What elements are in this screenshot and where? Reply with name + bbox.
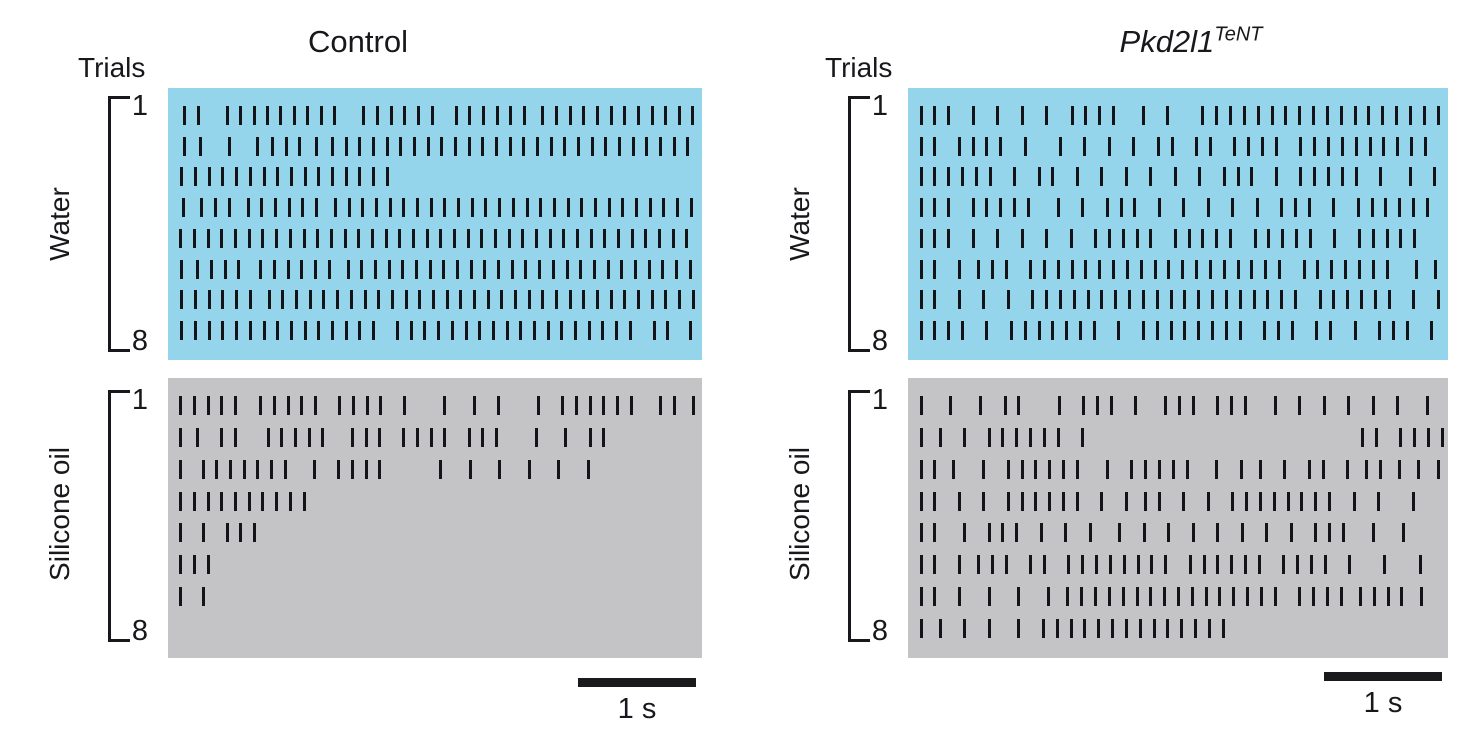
lick-tick bbox=[179, 229, 182, 248]
lick-tick bbox=[1045, 106, 1048, 125]
axis-label-control-oil: Silicone oil bbox=[46, 404, 74, 624]
lick-tick bbox=[920, 428, 923, 447]
lick-tick bbox=[933, 290, 936, 309]
lick-tick bbox=[920, 396, 923, 415]
lick-tick bbox=[402, 428, 405, 447]
lick-tick bbox=[333, 106, 336, 125]
lick-tick bbox=[949, 396, 952, 415]
lick-tick bbox=[1076, 492, 1079, 511]
lick-tick bbox=[285, 137, 288, 156]
lick-tick bbox=[334, 198, 337, 217]
lick-tick bbox=[429, 260, 432, 279]
lick-tick bbox=[1322, 460, 1325, 479]
lick-tick bbox=[1420, 587, 1423, 606]
raster-control-oil bbox=[168, 378, 702, 658]
lick-tick bbox=[1353, 492, 1356, 511]
lick-tick bbox=[1207, 492, 1210, 511]
lick-tick bbox=[215, 460, 218, 479]
lick-tick bbox=[1197, 290, 1200, 309]
lick-tick bbox=[1040, 523, 1043, 542]
lick-tick bbox=[1280, 290, 1283, 309]
lick-tick bbox=[247, 198, 250, 217]
lick-tick bbox=[1239, 290, 1242, 309]
lick-tick bbox=[1383, 555, 1386, 574]
lick-tick bbox=[1387, 587, 1390, 606]
lick-tick bbox=[1183, 290, 1186, 309]
lick-tick bbox=[352, 396, 355, 415]
lick-tick bbox=[1149, 587, 1152, 606]
lick-tick bbox=[365, 460, 368, 479]
lick-tick bbox=[1144, 460, 1147, 479]
lick-tick bbox=[933, 229, 936, 248]
lick-tick bbox=[1021, 460, 1024, 479]
lick-tick bbox=[361, 198, 364, 217]
lick-tick bbox=[1396, 137, 1399, 156]
lick-tick bbox=[234, 229, 237, 248]
lick-tick bbox=[347, 260, 350, 279]
lick-tick bbox=[567, 198, 570, 217]
lick-tick bbox=[547, 321, 550, 340]
lick-tick bbox=[1392, 321, 1395, 340]
lick-tick bbox=[1310, 555, 1313, 574]
lick-tick bbox=[1062, 492, 1065, 511]
lick-tick bbox=[357, 229, 360, 248]
lick-tick bbox=[179, 555, 182, 574]
lick-tick bbox=[1065, 321, 1068, 340]
scalebar-tent: 1 s bbox=[1324, 672, 1442, 719]
lick-tick bbox=[1367, 106, 1370, 125]
lick-tick bbox=[1158, 198, 1161, 217]
lick-tick bbox=[1402, 523, 1405, 542]
lick-tick bbox=[193, 396, 196, 415]
lick-tick bbox=[1300, 492, 1303, 511]
lick-tick bbox=[1409, 106, 1412, 125]
lick-tick bbox=[610, 290, 613, 309]
lick-tick bbox=[1245, 492, 1248, 511]
lick-tick bbox=[1400, 587, 1403, 606]
lick-tick bbox=[673, 137, 676, 156]
lick-tick bbox=[582, 290, 585, 309]
lick-tick bbox=[1125, 492, 1128, 511]
lick-tick bbox=[224, 260, 227, 279]
lick-tick bbox=[1108, 229, 1111, 248]
lick-tick bbox=[220, 396, 223, 415]
scalebar-label-tent: 1 s bbox=[1324, 687, 1442, 719]
lick-tick bbox=[1395, 106, 1398, 125]
lick-tick bbox=[972, 106, 975, 125]
lick-tick bbox=[235, 167, 238, 186]
lick-tick bbox=[1095, 555, 1098, 574]
lick-tick bbox=[1415, 260, 1418, 279]
lick-tick bbox=[1237, 167, 1240, 186]
lick-tick bbox=[996, 229, 999, 248]
lick-tick bbox=[555, 106, 558, 125]
lick-tick bbox=[1441, 428, 1444, 447]
lick-tick bbox=[1254, 229, 1257, 248]
lick-tick bbox=[509, 137, 512, 156]
lick-tick bbox=[331, 321, 334, 340]
lick-tick bbox=[1093, 321, 1096, 340]
lick-tick bbox=[533, 321, 536, 340]
lick-tick bbox=[1158, 460, 1161, 479]
lick-tick bbox=[1038, 321, 1041, 340]
lick-tick bbox=[1024, 321, 1027, 340]
lick-tick bbox=[630, 396, 633, 415]
lick-tick bbox=[280, 428, 283, 447]
lick-tick bbox=[344, 229, 347, 248]
lick-tick bbox=[1256, 198, 1259, 217]
lick-tick bbox=[587, 460, 590, 479]
lick-tick bbox=[1326, 587, 1329, 606]
lick-tick bbox=[644, 229, 647, 248]
lick-tick bbox=[303, 492, 306, 511]
lick-tick bbox=[1299, 137, 1302, 156]
lick-tick bbox=[1308, 198, 1311, 217]
lick-tick bbox=[259, 260, 262, 279]
lick-tick bbox=[1287, 492, 1290, 511]
lick-tick bbox=[208, 167, 211, 186]
lick-tick bbox=[443, 396, 446, 415]
lick-tick bbox=[1171, 137, 1174, 156]
lick-tick bbox=[1233, 137, 1236, 156]
lick-tick bbox=[920, 321, 923, 340]
lick-tick bbox=[580, 198, 583, 217]
lick-tick bbox=[1114, 290, 1117, 309]
lick-tick bbox=[933, 167, 936, 186]
lick-tick bbox=[193, 492, 196, 511]
lick-tick bbox=[468, 137, 471, 156]
lick-tick bbox=[1263, 321, 1266, 340]
lick-tick bbox=[249, 167, 252, 186]
lick-tick bbox=[314, 396, 317, 415]
lick-tick bbox=[933, 198, 936, 217]
lick-tick bbox=[1327, 167, 1330, 186]
lick-tick bbox=[933, 460, 936, 479]
lick-tick bbox=[1056, 619, 1059, 638]
lick-tick bbox=[470, 260, 473, 279]
lick-tick bbox=[1013, 167, 1016, 186]
lick-tick bbox=[1192, 396, 1195, 415]
trial-last-tent-oil: 8 bbox=[840, 617, 888, 646]
lick-tick bbox=[179, 587, 182, 606]
lick-tick bbox=[920, 492, 923, 511]
lick-tick bbox=[590, 229, 593, 248]
lick-tick bbox=[1057, 260, 1060, 279]
lick-tick bbox=[1434, 260, 1437, 279]
lick-tick bbox=[1083, 619, 1086, 638]
lick-tick bbox=[1029, 428, 1032, 447]
lick-tick bbox=[550, 137, 553, 156]
lick-tick bbox=[243, 460, 246, 479]
lick-tick bbox=[1051, 167, 1054, 186]
lick-tick bbox=[376, 106, 379, 125]
lick-tick bbox=[1198, 167, 1201, 186]
lick-tick bbox=[1372, 260, 1375, 279]
lick-tick bbox=[336, 290, 339, 309]
lick-tick bbox=[328, 260, 331, 279]
raster-control-water bbox=[168, 88, 702, 360]
lick-tick bbox=[294, 428, 297, 447]
lick-tick bbox=[1203, 555, 1206, 574]
lick-tick bbox=[582, 106, 585, 125]
lick-tick bbox=[331, 167, 334, 186]
lick-tick bbox=[1250, 167, 1253, 186]
lick-tick bbox=[1181, 260, 1184, 279]
lick-tick bbox=[1076, 460, 1079, 479]
lick-tick bbox=[483, 260, 486, 279]
lick-tick bbox=[276, 321, 279, 340]
lick-tick bbox=[315, 198, 318, 217]
lick-tick bbox=[1172, 460, 1175, 479]
lick-tick bbox=[1149, 229, 1152, 248]
trial-bracket-control-oil bbox=[108, 390, 130, 642]
scalebar-line-control bbox=[578, 678, 696, 687]
lick-tick bbox=[511, 260, 514, 279]
lick-tick bbox=[589, 428, 592, 447]
lick-tick bbox=[1125, 167, 1128, 186]
lick-tick bbox=[1253, 290, 1256, 309]
lick-tick bbox=[1174, 167, 1177, 186]
lick-tick bbox=[1215, 229, 1218, 248]
lick-tick bbox=[672, 229, 675, 248]
lick-tick bbox=[577, 137, 580, 156]
lick-tick bbox=[1058, 396, 1061, 415]
lick-tick bbox=[604, 137, 607, 156]
lick-tick bbox=[1381, 106, 1384, 125]
lick-tick bbox=[1156, 290, 1159, 309]
lick-tick bbox=[1154, 260, 1157, 279]
lick-tick bbox=[1021, 229, 1024, 248]
lick-tick bbox=[920, 137, 923, 156]
lick-tick bbox=[979, 396, 982, 415]
lick-tick bbox=[180, 167, 183, 186]
scalebar-label-control: 1 s bbox=[578, 693, 696, 725]
lick-tick bbox=[1128, 290, 1131, 309]
lick-tick bbox=[1229, 106, 1232, 125]
lick-tick bbox=[963, 428, 966, 447]
lick-tick bbox=[637, 290, 640, 309]
lick-tick bbox=[412, 229, 415, 248]
lick-tick bbox=[498, 198, 501, 217]
lick-tick bbox=[920, 619, 923, 638]
lick-tick bbox=[437, 321, 440, 340]
trial-bracket-control-water bbox=[108, 96, 130, 352]
raster-tent-water bbox=[908, 88, 1448, 360]
lick-tick bbox=[484, 198, 487, 217]
lick-tick bbox=[1413, 428, 1416, 447]
lick-tick bbox=[920, 106, 923, 125]
lick-tick bbox=[1142, 106, 1145, 125]
lick-tick bbox=[1314, 523, 1317, 542]
lick-tick bbox=[1079, 321, 1082, 340]
lick-tick bbox=[1315, 321, 1318, 340]
lick-tick bbox=[303, 229, 306, 248]
lick-tick bbox=[1123, 555, 1126, 574]
lick-tick bbox=[1243, 106, 1246, 125]
lick-tick bbox=[196, 260, 199, 279]
lick-tick bbox=[1298, 106, 1301, 125]
lick-tick bbox=[1167, 260, 1170, 279]
lick-tick bbox=[1071, 106, 1074, 125]
lick-tick bbox=[1218, 587, 1221, 606]
trial-last-tent-water: 8 bbox=[840, 327, 888, 356]
lick-tick bbox=[1027, 198, 1030, 217]
lick-tick bbox=[939, 428, 942, 447]
lick-tick bbox=[480, 229, 483, 248]
lick-tick bbox=[1371, 198, 1374, 217]
lick-tick bbox=[315, 137, 318, 156]
lick-tick bbox=[1188, 229, 1191, 248]
lick-tick bbox=[933, 321, 936, 340]
lick-tick bbox=[260, 198, 263, 217]
lick-tick bbox=[481, 428, 484, 447]
lick-tick bbox=[666, 321, 669, 340]
lick-tick bbox=[958, 137, 961, 156]
lick-tick bbox=[1324, 555, 1327, 574]
lick-tick bbox=[1231, 492, 1234, 511]
lick-tick bbox=[500, 290, 503, 309]
panel-title-tent: Pkd2l1TeNT bbox=[1120, 22, 1263, 62]
lick-tick bbox=[403, 396, 406, 415]
lick-tick bbox=[635, 198, 638, 217]
lick-tick bbox=[390, 106, 393, 125]
lick-tick bbox=[374, 260, 377, 279]
lick-tick bbox=[982, 492, 985, 511]
lick-tick bbox=[271, 137, 274, 156]
lick-tick bbox=[1201, 106, 1204, 125]
lick-tick bbox=[1100, 167, 1103, 186]
lick-tick bbox=[972, 137, 975, 156]
lick-tick bbox=[345, 167, 348, 186]
lick-tick bbox=[442, 260, 445, 279]
lick-tick bbox=[1170, 321, 1173, 340]
lick-tick bbox=[1042, 619, 1045, 638]
lick-tick bbox=[1004, 396, 1007, 415]
lick-tick bbox=[1273, 492, 1276, 511]
lick-tick bbox=[553, 198, 556, 217]
lick-tick bbox=[1215, 106, 1218, 125]
lick-tick bbox=[497, 260, 500, 279]
lick-tick bbox=[691, 106, 694, 125]
lick-tick bbox=[528, 290, 531, 309]
lick-tick bbox=[1034, 460, 1037, 479]
lick-tick bbox=[1299, 167, 1302, 186]
lick-tick bbox=[1275, 167, 1278, 186]
lick-tick bbox=[512, 198, 515, 217]
lick-tick bbox=[608, 198, 611, 217]
lick-tick bbox=[594, 198, 597, 217]
lick-tick bbox=[301, 198, 304, 217]
lick-tick bbox=[1239, 321, 1242, 340]
lick-tick bbox=[631, 229, 634, 248]
lick-tick bbox=[1412, 198, 1415, 217]
lick-tick bbox=[220, 428, 223, 447]
lick-tick bbox=[618, 137, 621, 156]
lick-tick bbox=[621, 198, 624, 217]
trial-first-control-water: 1 bbox=[100, 92, 148, 121]
lick-tick bbox=[193, 229, 196, 248]
lick-tick bbox=[372, 321, 375, 340]
lick-tick bbox=[1097, 619, 1100, 638]
lick-tick bbox=[289, 492, 292, 511]
lick-tick bbox=[1153, 619, 1156, 638]
lick-tick bbox=[1303, 260, 1306, 279]
lick-tick bbox=[372, 167, 375, 186]
lick-tick bbox=[348, 198, 351, 217]
lick-tick bbox=[1007, 492, 1010, 511]
lick-tick bbox=[1007, 460, 1010, 479]
lick-tick bbox=[263, 321, 266, 340]
lick-tick bbox=[1229, 229, 1232, 248]
lick-tick bbox=[179, 492, 182, 511]
lick-tick bbox=[1274, 396, 1277, 415]
lick-tick bbox=[207, 555, 210, 574]
lick-tick bbox=[1373, 587, 1376, 606]
lick-tick bbox=[455, 106, 458, 125]
lick-tick bbox=[1010, 321, 1013, 340]
lick-tick bbox=[1361, 428, 1364, 447]
lick-tick bbox=[692, 290, 695, 309]
lick-tick bbox=[1084, 260, 1087, 279]
lick-tick bbox=[1029, 260, 1032, 279]
lick-tick bbox=[267, 428, 270, 447]
lick-tick bbox=[1348, 555, 1351, 574]
lick-tick bbox=[263, 167, 266, 186]
lick-tick bbox=[268, 290, 271, 309]
lick-tick bbox=[634, 260, 637, 279]
lick-tick bbox=[193, 555, 196, 574]
lick-tick bbox=[270, 460, 273, 479]
lick-tick bbox=[659, 137, 662, 156]
lick-tick bbox=[379, 396, 382, 415]
lick-tick bbox=[321, 428, 324, 447]
lick-tick bbox=[588, 321, 591, 340]
lick-tick bbox=[1379, 460, 1382, 479]
lick-tick bbox=[440, 137, 443, 156]
lick-tick bbox=[535, 428, 538, 447]
lick-tick bbox=[1048, 492, 1051, 511]
lick-tick bbox=[453, 229, 456, 248]
lick-tick bbox=[1136, 587, 1139, 606]
lick-tick bbox=[1326, 106, 1329, 125]
lick-tick bbox=[1332, 198, 1335, 217]
lick-tick bbox=[991, 260, 994, 279]
lick-tick bbox=[1205, 587, 1208, 606]
lick-tick bbox=[443, 428, 446, 447]
lick-tick bbox=[1021, 492, 1024, 511]
lick-tick bbox=[298, 137, 301, 156]
lick-tick bbox=[1080, 587, 1083, 606]
lick-tick bbox=[345, 321, 348, 340]
lick-tick bbox=[999, 198, 1002, 217]
lick-tick bbox=[364, 290, 367, 309]
lick-tick bbox=[253, 106, 256, 125]
lick-tick bbox=[1001, 428, 1004, 447]
lick-tick bbox=[1312, 587, 1315, 606]
lick-tick bbox=[920, 229, 923, 248]
lick-tick bbox=[417, 106, 420, 125]
lick-tick bbox=[617, 229, 620, 248]
lick-tick bbox=[1005, 555, 1008, 574]
lick-tick bbox=[1357, 198, 1360, 217]
lick-tick bbox=[396, 321, 399, 340]
lick-tick bbox=[496, 106, 499, 125]
lick-tick bbox=[273, 260, 276, 279]
lick-tick bbox=[179, 523, 182, 542]
lick-tick bbox=[999, 137, 1002, 156]
lick-tick bbox=[413, 137, 416, 156]
lick-tick bbox=[457, 198, 460, 217]
